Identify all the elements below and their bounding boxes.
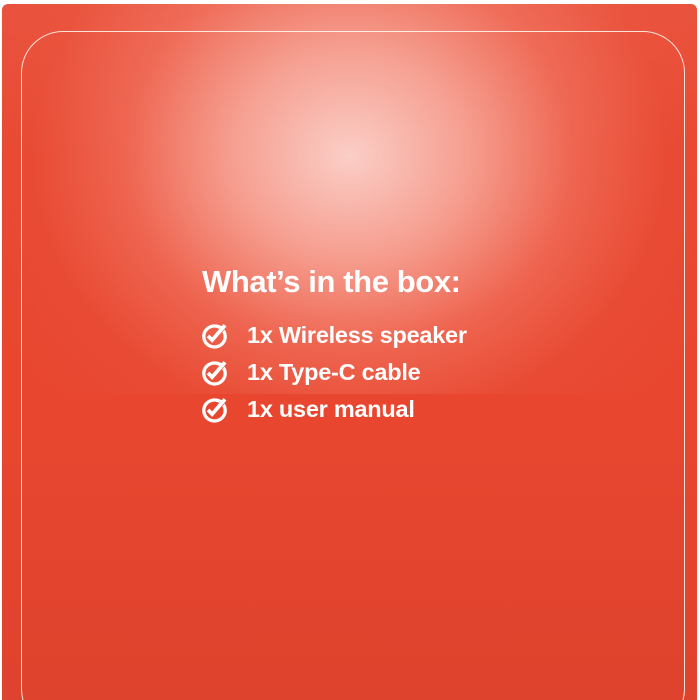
list-item: 1x Type-C cable: [202, 358, 622, 388]
whats-in-the-box-block: What’s in the box: 1x Wireless speaker 1…: [202, 266, 622, 425]
list-item-label: 1x user manual: [247, 398, 415, 422]
check-circle-icon: [202, 324, 227, 349]
list-item-label: 1x Wireless speaker: [247, 324, 467, 348]
red-product-panel: What’s in the box: 1x Wireless speaker 1…: [2, 4, 697, 700]
list-item: 1x Wireless speaker: [202, 321, 622, 351]
whats-in-the-box-heading: What’s in the box:: [202, 266, 622, 297]
check-circle-icon: [202, 398, 227, 423]
product-panel-stage: What’s in the box: 1x Wireless speaker 1…: [0, 0, 700, 700]
box-contents-list: 1x Wireless speaker 1x Type-C cable 1x u…: [202, 321, 622, 425]
list-item: 1x user manual: [202, 395, 622, 425]
list-item-label: 1x Type-C cable: [247, 361, 420, 385]
check-circle-icon: [202, 361, 227, 386]
